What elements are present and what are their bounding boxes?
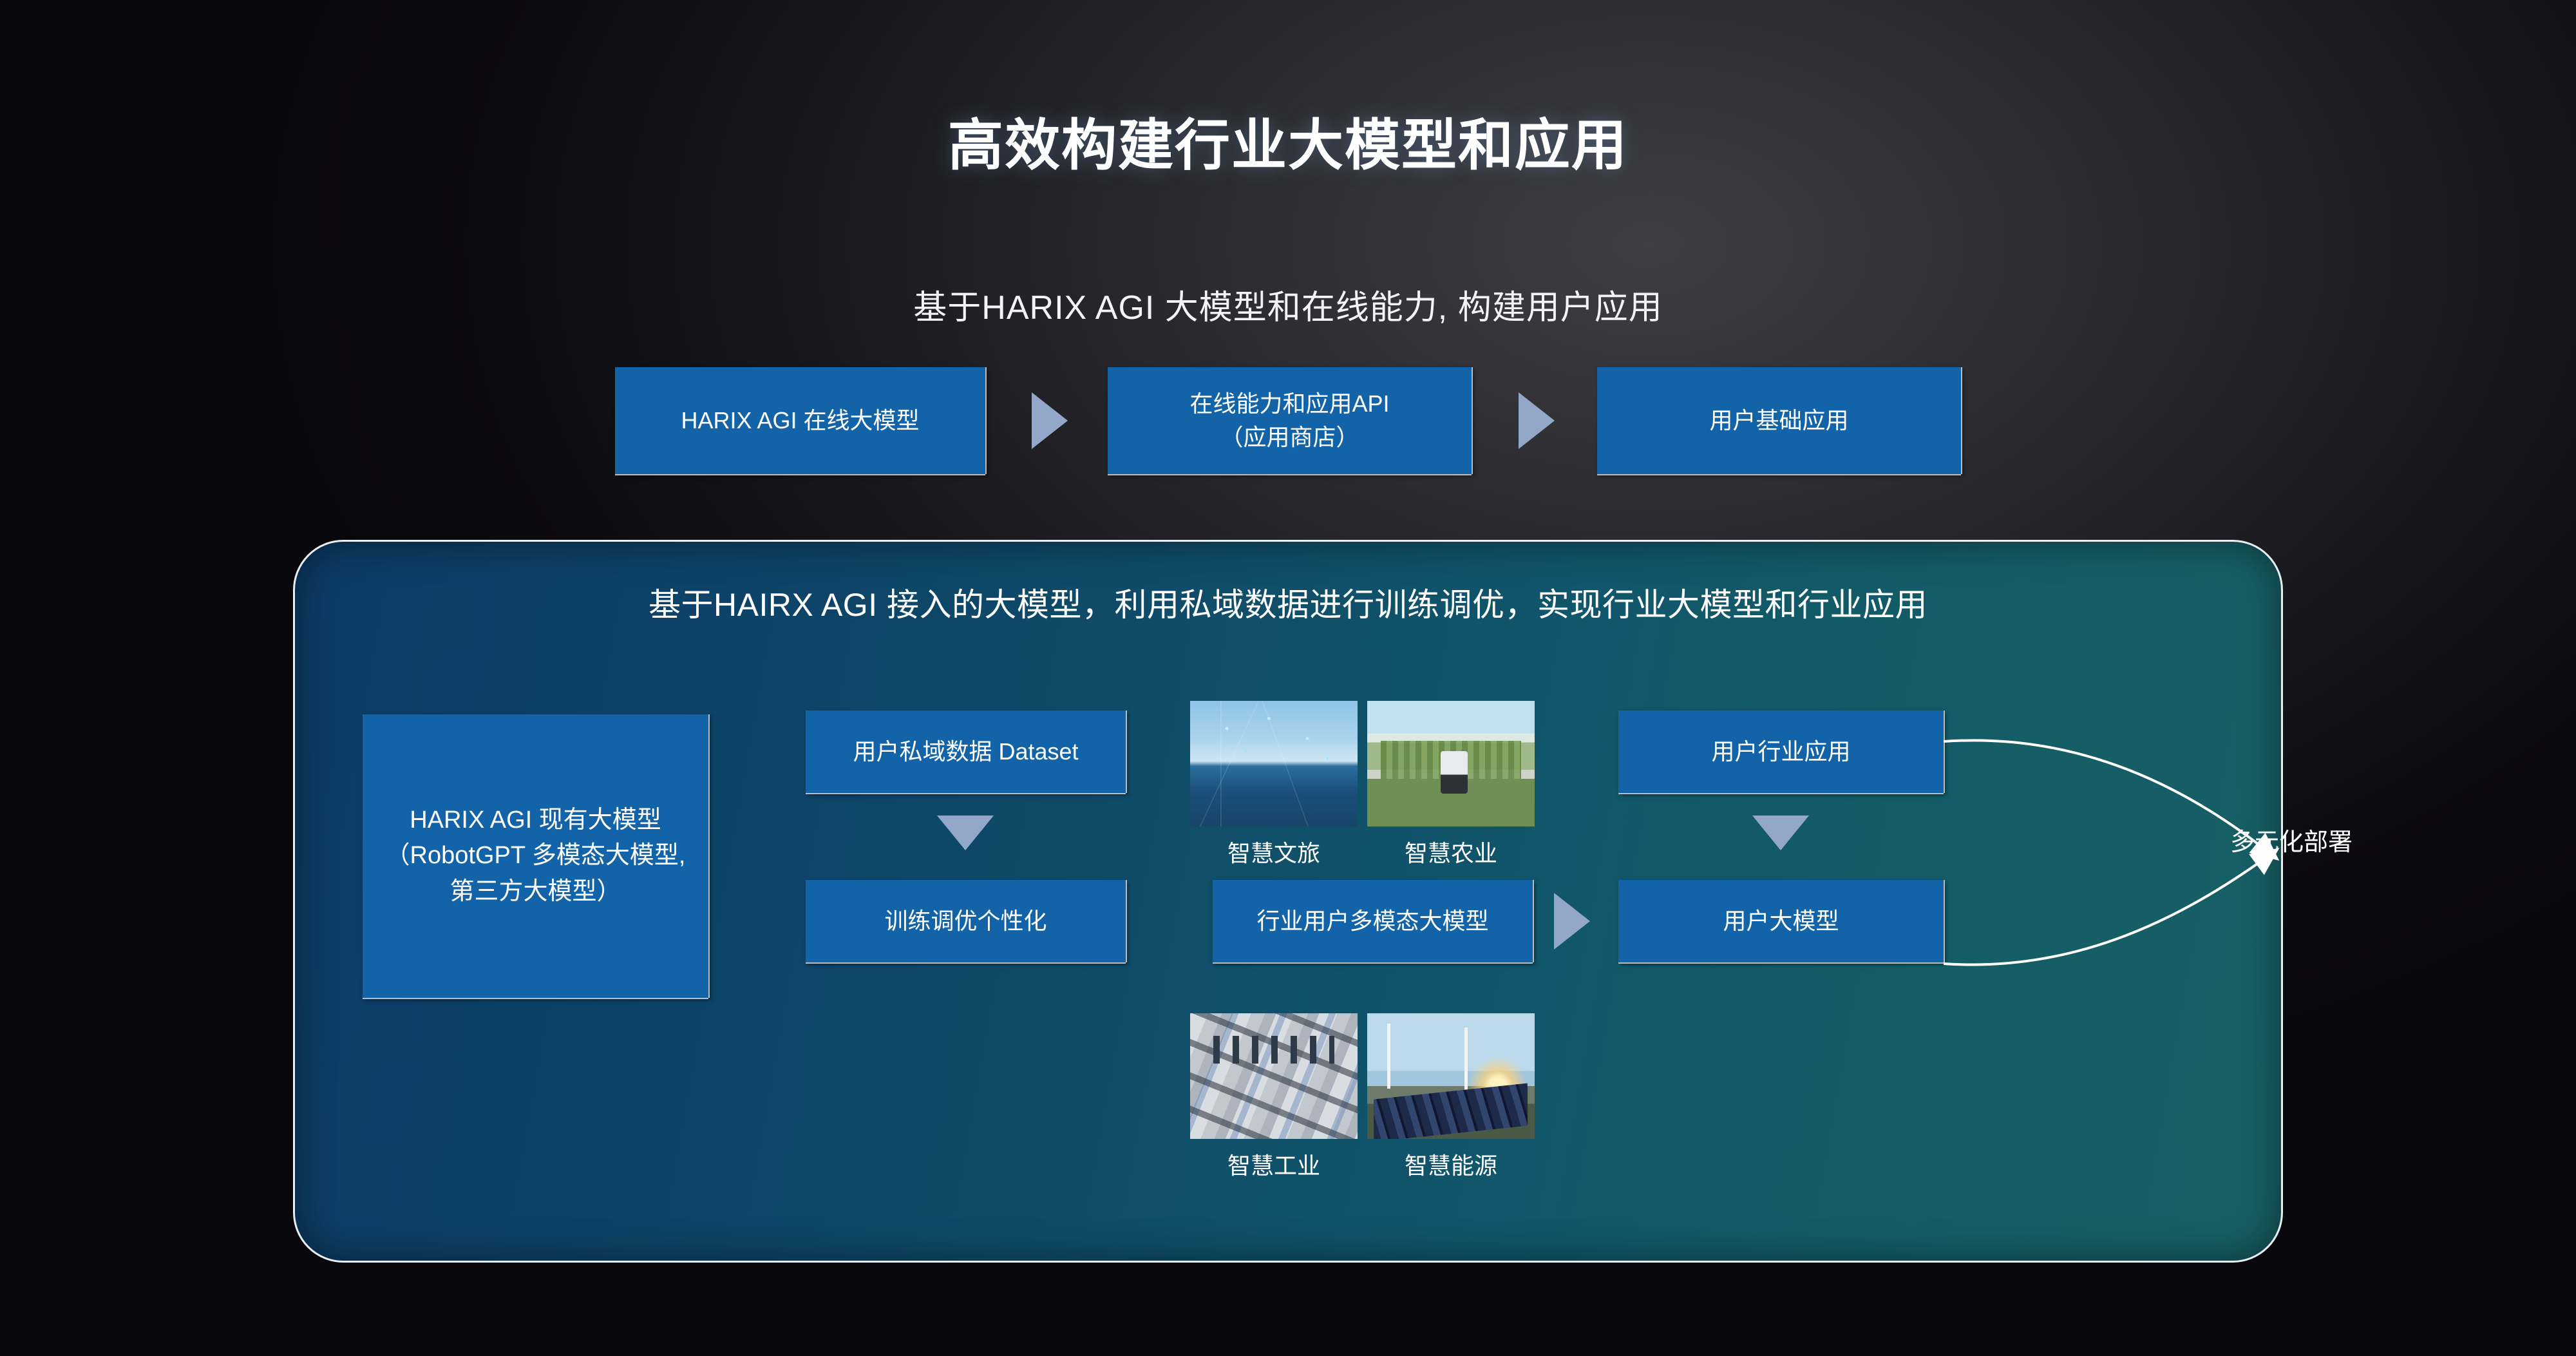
node-label: 训练调优个性化 — [884, 904, 1046, 938]
arrow-down-icon-1 — [937, 816, 994, 850]
node-user-basic-app[interactable]: 用户基础应用 — [1597, 367, 1961, 474]
industry-model-panel: 基于HAIRX AGI 接入的大模型，利用私域数据进行训练调优，实现行业大模型和… — [293, 540, 2283, 1263]
arrow-right-icon-1 — [1032, 392, 1068, 449]
node-training-tuning[interactable]: 训练调优个性化 — [806, 880, 1126, 962]
node-label-line2: （应用商店） — [1220, 421, 1359, 454]
node-label: 行业用户多模态大模型 — [1256, 904, 1488, 938]
node-user-industry-app[interactable]: 用户行业应用 — [1618, 711, 1944, 793]
industrial-plant-photo — [1190, 1013, 1358, 1139]
slide-canvas: 高效构建行业大模型和应用 基于HARIX AGI 大模型和在线能力, 构建用户应… — [0, 0, 2576, 1356]
panel-heading: 基于HAIRX AGI 接入的大模型，利用私域数据进行训练调优，实现行业大模型和… — [295, 579, 2281, 625]
page-title: 高效构建行业大模型和应用 — [0, 100, 2576, 180]
node-online-capability-api[interactable]: 在线能力和应用API （应用商店） — [1108, 367, 1472, 474]
thumb-agriculture[interactable] — [1367, 701, 1535, 826]
arrow-down-icon-2 — [1752, 816, 1809, 850]
subtitle: 基于HARIX AGI 大模型和在线能力, 构建用户应用 — [0, 280, 2576, 329]
caption-energy: 智慧能源 — [1354, 1147, 1548, 1181]
node-industry-multimodal-model[interactable]: 行业用户多模态大模型 — [1213, 880, 1533, 962]
node-private-dataset[interactable]: 用户私域数据 Dataset — [806, 711, 1126, 793]
node-label: 用户基础应用 — [1709, 404, 1848, 437]
deploy-curve-bottom — [1940, 835, 2430, 1028]
node-label-line2: （RobotGPT 多模态大模型, — [386, 838, 686, 874]
node-label: 用户大模型 — [1723, 904, 1839, 938]
node-harix-online-model[interactable]: HARIX AGI 在线大模型 — [615, 367, 985, 474]
arrow-right-icon-4 — [1554, 893, 1590, 950]
caption-smart-city: 智慧文旅 — [1177, 835, 1370, 868]
caption-agriculture: 智慧农业 — [1354, 835, 1548, 868]
node-label-line1: 在线能力和应用API — [1189, 387, 1389, 421]
node-label: 用户行业应用 — [1711, 735, 1850, 769]
node-label-line1: HARIX AGI 现有大模型 — [410, 803, 661, 838]
smart-city-photo — [1190, 701, 1358, 826]
arrow-right-icon-2 — [1519, 392, 1555, 449]
thumb-industry[interactable] — [1190, 1013, 1358, 1139]
caption-industry: 智慧工业 — [1177, 1147, 1370, 1181]
node-label: HARIX AGI 在线大模型 — [681, 404, 919, 437]
node-label: 用户私域数据 Dataset — [853, 735, 1078, 769]
node-harix-existing-models[interactable]: HARIX AGI 现有大模型 （RobotGPT 多模态大模型, 第三方大模型… — [363, 714, 708, 998]
deploy-label: 多元化部署 — [2182, 822, 2401, 857]
wind-solar-energy-photo — [1367, 1013, 1535, 1139]
thumb-energy[interactable] — [1367, 1013, 1535, 1139]
node-label-line3: 第三方大模型） — [450, 874, 621, 910]
thumb-smart-city[interactable] — [1190, 701, 1358, 826]
node-user-large-model[interactable]: 用户大模型 — [1618, 880, 1944, 962]
agriculture-robot-photo — [1367, 701, 1535, 826]
